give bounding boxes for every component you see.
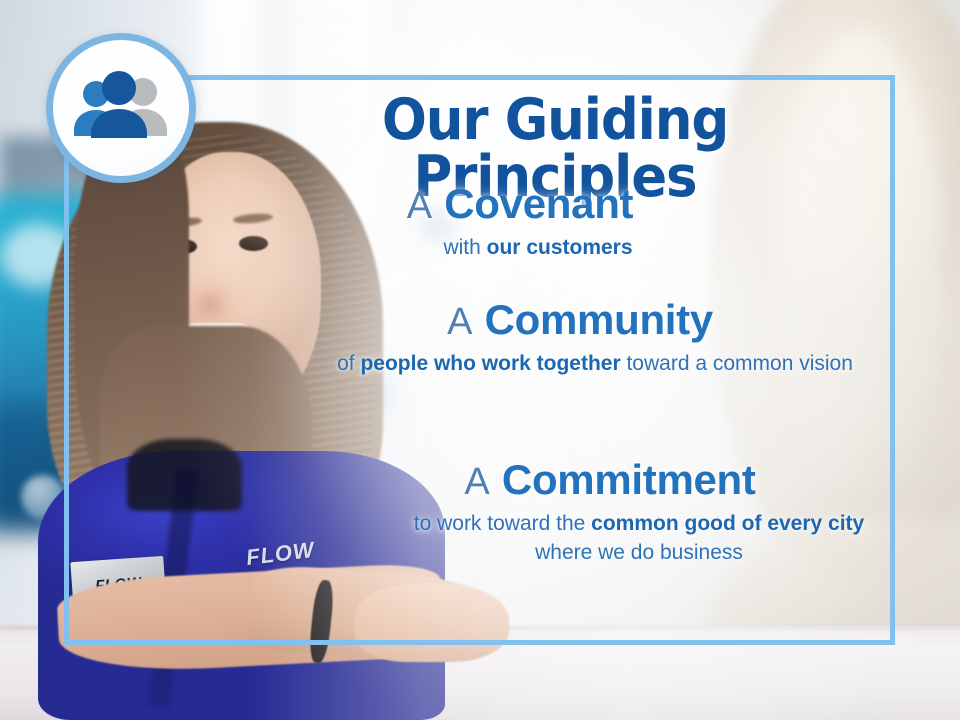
people-group-badge — [46, 33, 196, 183]
people-group-icon — [69, 70, 173, 146]
employee-clasped-hands — [355, 583, 509, 662]
guiding-principles-poster: FLOW FLOW Our Guiding Principles — [0, 0, 960, 720]
employee-nose — [197, 284, 223, 314]
blurred-customer-hair — [778, 29, 941, 504]
